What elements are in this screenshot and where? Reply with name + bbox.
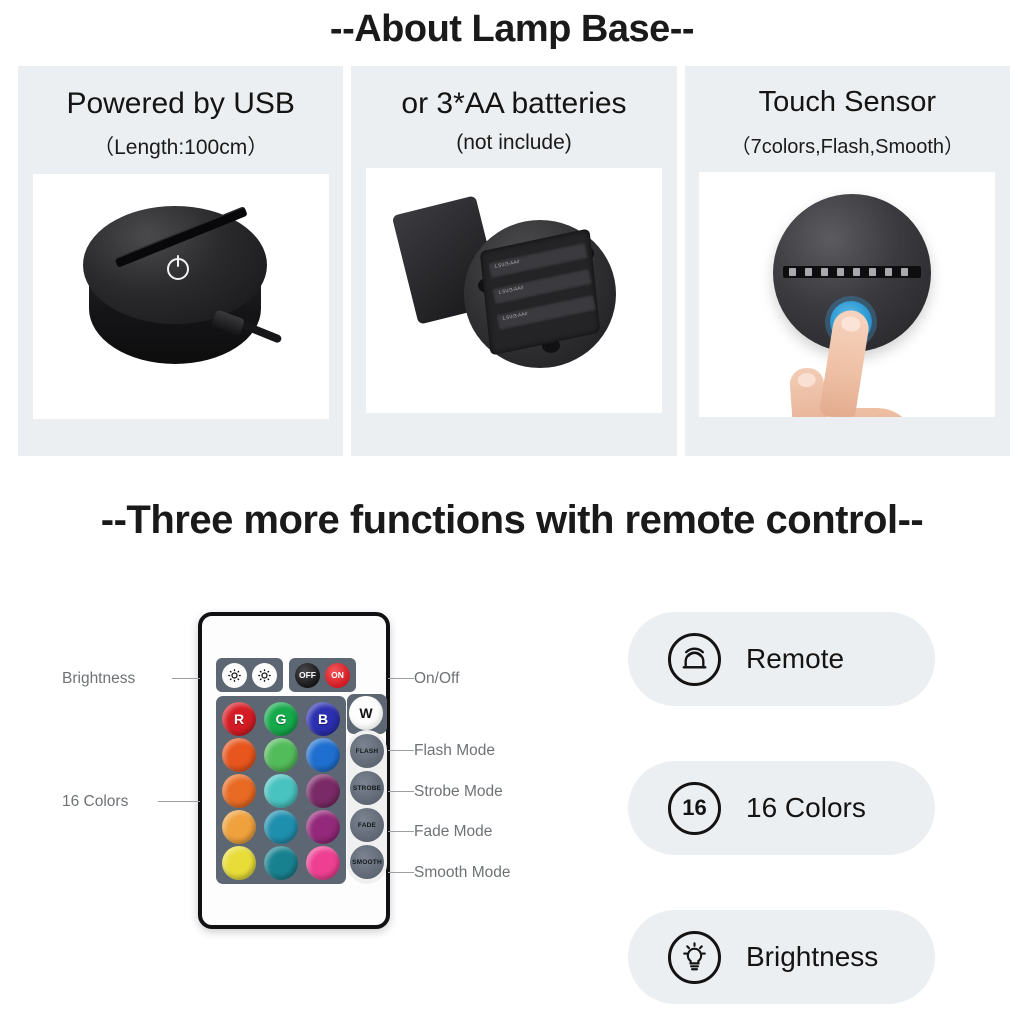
callout-brightness: Brightness [62, 670, 135, 688]
color-button-14[interactable] [264, 846, 298, 880]
color-button-9[interactable] [306, 774, 340, 808]
card-title: Touch Sensor [759, 87, 936, 119]
brightness-button-group [216, 658, 283, 692]
color-button-5[interactable] [264, 738, 298, 772]
feature-pill-list: Remote 16 16 Colors Brightness [628, 612, 938, 1024]
card-subtitle: （Length:100cm） [93, 131, 268, 161]
product-info-page: --About Lamp Base-- Powered by USB （Leng… [0, 0, 1024, 1024]
flash-mode-button[interactable]: FLASH [350, 734, 384, 768]
leader-line-fade [388, 831, 414, 832]
feature-card-row: Powered by USB （Length:100cm） or 3*AA ba… [18, 66, 1010, 456]
color-button-grid: RGB [222, 702, 346, 880]
light-bulb-icon [668, 931, 721, 984]
usb-lamp-base-photo [33, 174, 329, 419]
card-subtitle: (not include) [456, 131, 572, 155]
leader-line-smooth [388, 872, 414, 873]
power-button-group: OFF ON [289, 658, 356, 692]
white-color-button[interactable]: W [349, 696, 383, 730]
callout-smooth-mode: Smooth Mode [414, 864, 511, 882]
color-button-4[interactable] [222, 738, 256, 772]
color-button-10[interactable] [222, 810, 256, 844]
brightness-down-button[interactable] [252, 663, 277, 688]
color-button-11[interactable] [264, 810, 298, 844]
lamp-base-top-surface [83, 206, 267, 324]
sixteen-circle-icon: 16 [668, 782, 721, 835]
led-strip [783, 266, 921, 278]
leader-line-flash [388, 750, 414, 751]
color-button-13[interactable] [222, 846, 256, 880]
power-on-button[interactable]: ON [325, 663, 350, 688]
color-button-3[interactable]: B [306, 702, 340, 736]
color-button-1[interactable]: R [222, 702, 256, 736]
battery-compartment-photo: 1.5V/3-AA# 1.5V/3-AA# 1.5V/3-AA# [366, 168, 662, 413]
color-keypad: RGB [216, 696, 346, 884]
brightness-up-button[interactable] [222, 663, 247, 688]
smooth-mode-button[interactable]: SMOOTH [350, 845, 384, 879]
callout-strobe-mode: Strobe Mode [414, 783, 503, 801]
callout-on-off: On/Off [414, 670, 459, 688]
color-button-6[interactable] [306, 738, 340, 772]
color-button-2[interactable]: G [264, 702, 298, 736]
page-title-about-lamp-base: --About Lamp Base-- [0, 8, 1024, 51]
remote-top-button-row: OFF ON [216, 658, 380, 692]
leader-line-onoff [388, 678, 414, 679]
power-off-button[interactable]: OFF [295, 663, 320, 688]
color-button-15[interactable] [306, 846, 340, 880]
color-button-8[interactable] [264, 774, 298, 808]
card-title: or 3*AA batteries [401, 87, 626, 120]
color-button-12[interactable] [306, 810, 340, 844]
feature-pill-label: Remote [746, 643, 844, 675]
badge-number: 16 [671, 785, 718, 832]
callout-16-colors: 16 Colors [62, 793, 128, 811]
fade-mode-button[interactable]: FADE [350, 808, 384, 842]
battery-slot-label: 1.5V/3-AA# [502, 311, 528, 322]
remote-control[interactable]: OFF ON RGB W FLASH STROBE FADE SMOOTH [198, 612, 390, 929]
card-subtitle: （7colors,Flash,Smooth） [731, 130, 964, 159]
card-powered-by-usb: Powered by USB （Length:100cm） [18, 66, 343, 456]
touch-sensor-photo [699, 172, 995, 417]
leader-line-16-colors [158, 801, 200, 802]
feature-pill-16-colors[interactable]: 16 16 Colors [628, 761, 935, 855]
card-title: Powered by USB [66, 87, 294, 120]
feature-pill-label: 16 Colors [746, 792, 866, 824]
mode-button-column: FLASH STROBE FADE SMOOTH [347, 730, 387, 884]
strobe-mode-button[interactable]: STROBE [350, 771, 384, 805]
battery-slot-label: 1.5V/3-AA# [494, 259, 520, 270]
card-aa-batteries: or 3*AA batteries (not include) 1.5V/3-A… [351, 66, 676, 456]
callout-flash-mode: Flash Mode [414, 742, 495, 760]
callout-fade-mode: Fade Mode [414, 823, 492, 841]
page-title-three-more-functions: --Three more functions with remote contr… [0, 498, 1024, 543]
remote-signal-icon [668, 633, 721, 686]
feature-pill-brightness[interactable]: Brightness [628, 910, 935, 1004]
feature-pill-remote[interactable]: Remote [628, 612, 935, 706]
leader-line-strobe [388, 791, 414, 792]
battery-slot-label: 1.5V/3-AA# [498, 285, 524, 296]
feature-pill-label: Brightness [746, 941, 878, 973]
color-button-7[interactable] [222, 774, 256, 808]
power-symbol-icon [167, 258, 189, 280]
leader-line-brightness [172, 678, 200, 679]
card-touch-sensor: Touch Sensor （7colors,Flash,Smooth） [685, 66, 1010, 456]
white-button-wrap: W [349, 696, 383, 730]
